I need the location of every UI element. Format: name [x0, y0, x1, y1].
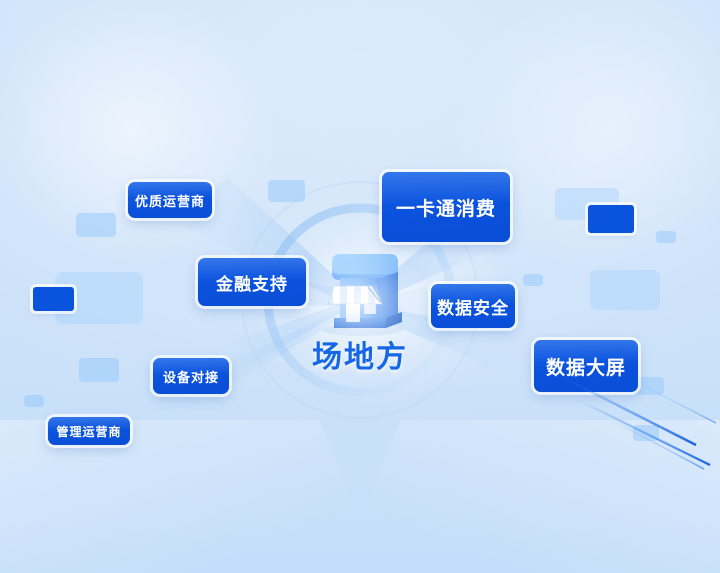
background-wash-top-right: [390, 0, 720, 330]
decor-rect-8: [523, 274, 543, 286]
hero-graphic: 场地方 优质运营商 金融支持 设备对接 管理运营商 一卡通消费 数据安全 数据大…: [0, 0, 720, 573]
node-label: 金融支持: [216, 270, 288, 295]
node-device-integration[interactable]: 设备对接: [153, 358, 229, 394]
node-quality-operator[interactable]: 优质运营商: [128, 182, 212, 218]
node-label: 优质运营商: [135, 191, 205, 210]
node-data-security[interactable]: 数据安全: [431, 284, 515, 328]
decor-rect-1: [76, 213, 116, 237]
decor-rect-4: [24, 395, 44, 407]
node-management-operator[interactable]: 管理运营商: [48, 417, 130, 445]
node-label: 数据大屏: [546, 353, 626, 380]
decor-rect-5: [268, 180, 305, 202]
decor-rect-accent-right: [588, 205, 634, 233]
storefront-icon-wrapper: [306, 242, 414, 338]
decor-rect-11: [633, 425, 659, 441]
node-label: 一卡通消费: [396, 194, 496, 221]
storefront-icon: [306, 242, 414, 338]
decor-rect-accent-left: [33, 287, 74, 311]
node-label: 设备对接: [163, 367, 219, 386]
decor-rect-6: [555, 188, 619, 220]
decor-rect-10: [634, 377, 664, 395]
node-label: 数据安全: [437, 294, 509, 319]
decor-rect-7: [656, 231, 676, 243]
background-pane-right: [320, 420, 720, 573]
node-all-in-one-card[interactable]: 一卡通消费: [382, 172, 510, 242]
decor-rect-9: [590, 270, 660, 310]
node-label: 管理运营商: [56, 423, 121, 440]
decor-rect-2: [55, 272, 143, 324]
node-financial-support[interactable]: 金融支持: [198, 258, 306, 306]
node-data-dashboard[interactable]: 数据大屏: [534, 340, 638, 392]
